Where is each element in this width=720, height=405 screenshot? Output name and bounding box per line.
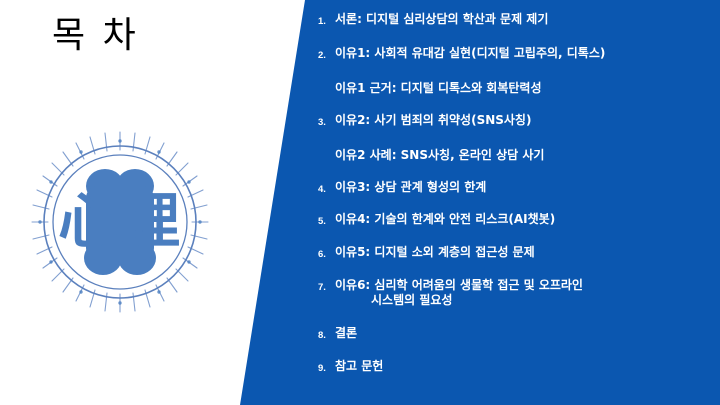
list-item-label: 이유5: 디지털 소외 계층의 접근성 문제 xyxy=(335,245,535,260)
list-item-label: 이유4: 기술의 한계와 안전 리스크(AI챗봇) xyxy=(335,212,555,227)
list-item-sub[interactable]: 이유1 근거: 디지털 디톡스와 회복탄력성 xyxy=(318,81,542,96)
list-item-label: 이유1 근거: 디지털 디톡스와 회복탄력성 xyxy=(335,81,542,96)
list-item[interactable]: 7. 이유6: 심리학 어려움의 생물학 접근 및 오프라인 시스템의 필요성 xyxy=(318,278,583,308)
list-item[interactable]: 6. 이유5: 디지털 소외 계층의 접근성 문제 xyxy=(318,245,535,262)
page-title: 목 차 xyxy=(52,8,139,64)
list-item-label-block: 이유6: 심리학 어려움의 생물학 접근 및 오프라인 시스템의 필요성 xyxy=(335,278,583,308)
list-item[interactable]: 9. 참고 문헌 xyxy=(318,359,383,376)
list-item-number: 2. xyxy=(318,46,335,63)
list-item[interactable]: 1. 서론: 디지털 심리상담의 학산과 문제 제기 xyxy=(318,12,548,29)
psychology-brain-emblem-icon: 心 理 xyxy=(28,130,212,314)
list-item-label: 참고 문헌 xyxy=(335,359,383,374)
list-item[interactable]: 8. 결론 xyxy=(318,326,357,343)
list-item-number: 8. xyxy=(318,326,335,343)
list-item-label: 결론 xyxy=(335,326,357,341)
list-item-label: 이유2 사례: SNS사칭, 온라인 상담 사기 xyxy=(335,148,544,163)
list-item-number: 1. xyxy=(318,12,335,29)
list-item-label-line2: 시스템의 필요성 xyxy=(335,293,583,308)
list-item[interactable]: 3. 이유2: 사기 범죄의 취약성(SNS사칭) xyxy=(318,113,531,130)
list-item-number: 5. xyxy=(318,212,335,229)
list-item[interactable]: 4. 이유3: 상담 관계 형성의 한계 xyxy=(318,180,486,197)
list-item-sub[interactable]: 이유2 사례: SNS사칭, 온라인 상담 사기 xyxy=(318,148,544,163)
list-item-label: 이유1: 사회적 유대감 실현(디지털 고립주의, 디톡스) xyxy=(335,46,605,61)
agenda-list: 1. 서론: 디지털 심리상담의 학산과 문제 제기 2. 이유1: 사회적 유… xyxy=(318,0,718,405)
list-item-label: 이유6: 심리학 어려움의 생물학 접근 및 오프라인 xyxy=(335,278,583,292)
list-item-number: 6. xyxy=(318,245,335,262)
list-item-number: 7. xyxy=(318,278,335,295)
list-item-label: 이유3: 상담 관계 형성의 한계 xyxy=(335,180,486,195)
list-item[interactable]: 5. 이유4: 기술의 한계와 안전 리스크(AI챗봇) xyxy=(318,212,555,229)
list-item[interactable]: 2. 이유1: 사회적 유대감 실현(디지털 고립주의, 디톡스) xyxy=(318,46,605,63)
emblem-glyph-left: 心 xyxy=(58,187,118,257)
emblem-glyph-right: 理 xyxy=(120,187,180,257)
list-item-number: 4. xyxy=(318,180,335,197)
slide-canvas: 목 차 xyxy=(0,0,720,405)
list-item-label: 서론: 디지털 심리상담의 학산과 문제 제기 xyxy=(335,12,548,27)
list-item-label: 이유2: 사기 범죄의 취약성(SNS사칭) xyxy=(335,113,531,128)
list-item-number: 3. xyxy=(318,113,335,130)
list-item-number: 9. xyxy=(318,359,335,376)
